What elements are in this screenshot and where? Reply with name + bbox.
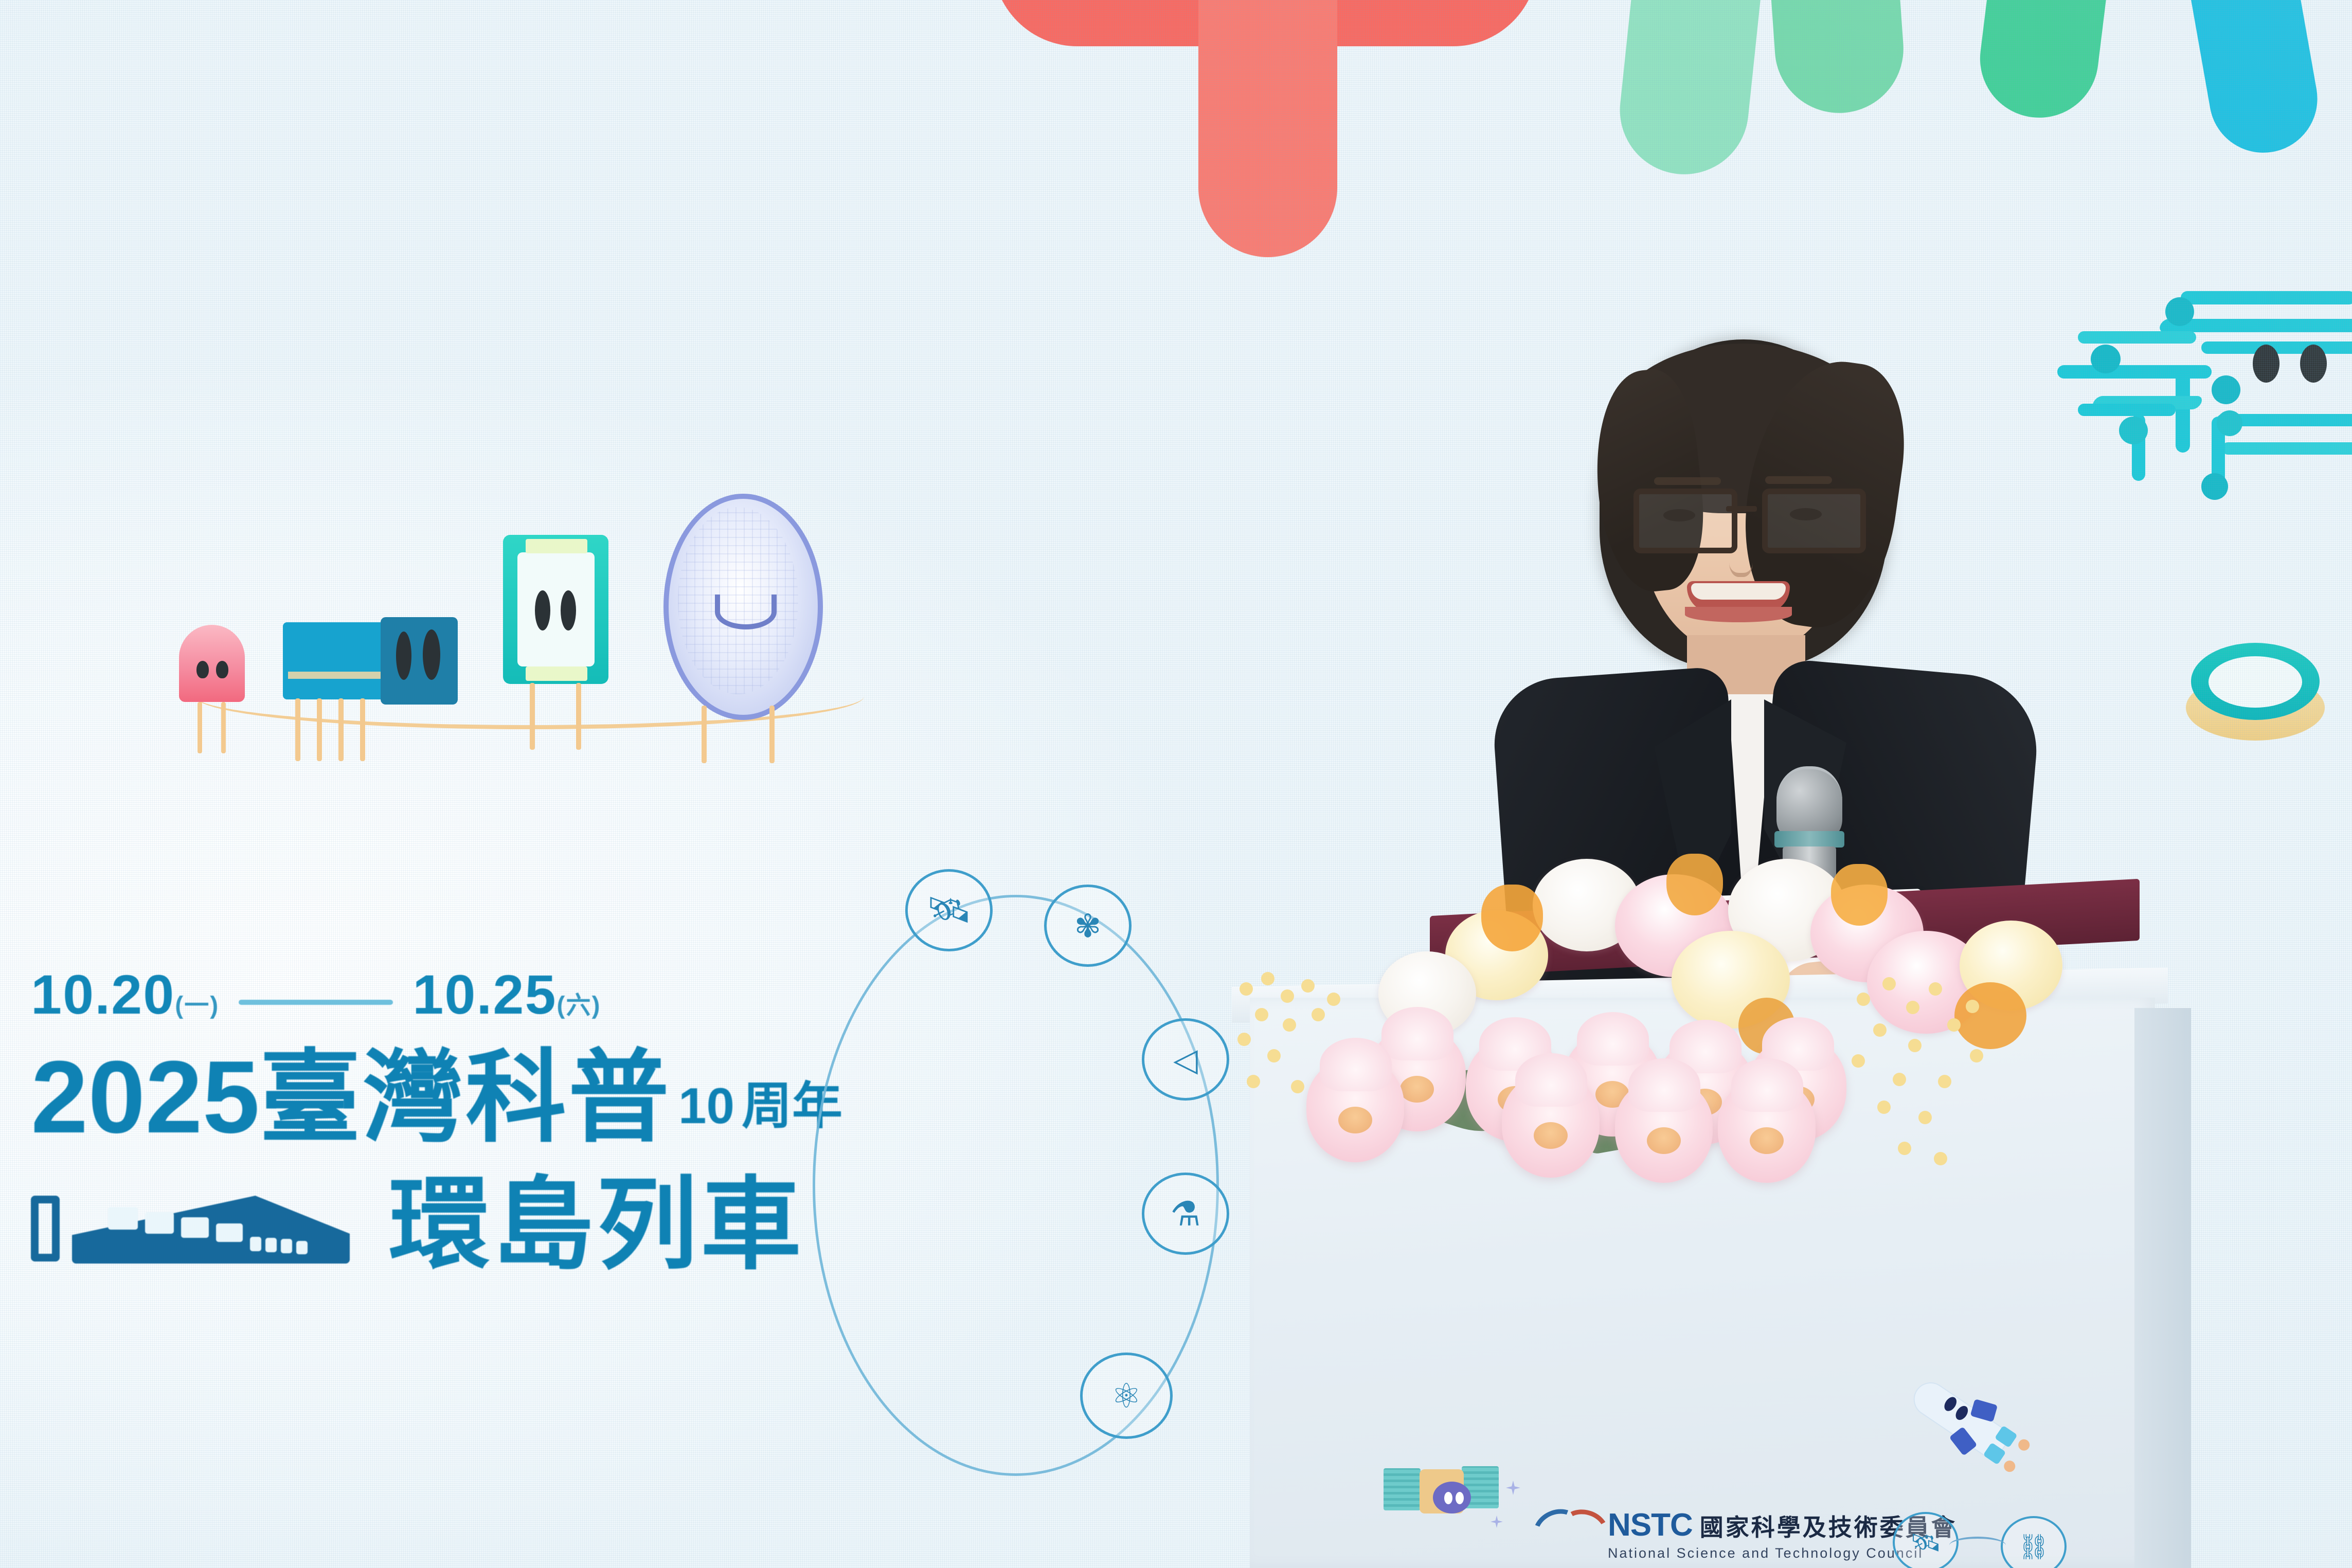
- podium-icon-chain: 🛰 ⛓: [1872, 1507, 2140, 1568]
- wafer-chip-graphic: [2186, 643, 2325, 741]
- event-year: 2025: [31, 1040, 260, 1155]
- wafer-mascot: [663, 494, 833, 766]
- event-title-main: 臺灣科普: [260, 1041, 671, 1154]
- butterfly-icon: ✾: [1044, 885, 1132, 967]
- orchid-flower: [1718, 1080, 1816, 1183]
- floral-arrangement: [1224, 854, 2160, 1183]
- nose: [1729, 541, 1753, 577]
- date-end-weekday: (六): [557, 992, 601, 1024]
- date-start: 10.20: [31, 963, 175, 1025]
- circuit-eye-left: [2253, 345, 2279, 383]
- microphone-ring: [1774, 831, 1844, 848]
- led-mascot: [179, 625, 256, 759]
- logo-letter-a-2: [1990, 0, 2206, 118]
- orchid-flower: [1502, 1075, 1600, 1178]
- oncidium-spray-left: [1234, 972, 1389, 1116]
- eyebrow-right: [1765, 476, 1832, 484]
- microphone-head: [1776, 766, 1842, 840]
- glasses-bridge: [1726, 506, 1757, 512]
- nstc-swoosh-icon: [1533, 1517, 1600, 1551]
- logo-letter-a: [1600, 0, 1908, 175]
- orchid-flower: [1615, 1080, 1713, 1183]
- logo-letter-t: [993, 0, 1538, 267]
- glasses-lens-right: [1762, 489, 1866, 553]
- chip-mascot: [283, 607, 468, 761]
- train-icon: [31, 1186, 360, 1264]
- satellite-icon-small: 🛰: [1893, 1512, 1959, 1568]
- satellite-icon: 🛰: [905, 869, 993, 951]
- date-start-weekday: (一): [175, 992, 219, 1024]
- event-title-sub: 環島列車: [389, 1175, 804, 1275]
- oncidium-spray-right: [1846, 972, 2062, 1178]
- science-icon-chain: 🛰 ✾ ◁ ⚗ ⚛: [802, 874, 1265, 1522]
- circuit-eye-right: [2300, 345, 2327, 383]
- eye-right: [1790, 508, 1822, 520]
- ic-mascot: [503, 535, 637, 756]
- logo-t-stem: [1198, 0, 1337, 257]
- logo-letter-n: [2191, 0, 2352, 154]
- lower-lip: [1685, 607, 1792, 622]
- eyebrow-left: [1654, 477, 1721, 485]
- dna-icon: ⛓: [2001, 1516, 2067, 1568]
- date-end: 10.25: [412, 963, 556, 1025]
- paper-plane-icon: ◁: [1142, 1018, 1229, 1101]
- presentation-photo: 10.20(一) 10.25(六) 2025臺灣科普10周年 環島列車: [0, 0, 2352, 1568]
- satellite-mascot: [1384, 1463, 1553, 1556]
- flask-icon: ⚗: [1142, 1173, 1229, 1255]
- nstc-abbreviation: NSTC: [1608, 1507, 1693, 1543]
- atom-icon: ⚛: [1080, 1353, 1173, 1439]
- date-dash: [239, 1000, 393, 1005]
- eye-left: [1663, 509, 1695, 521]
- event-anniversary: 10: [678, 1077, 734, 1134]
